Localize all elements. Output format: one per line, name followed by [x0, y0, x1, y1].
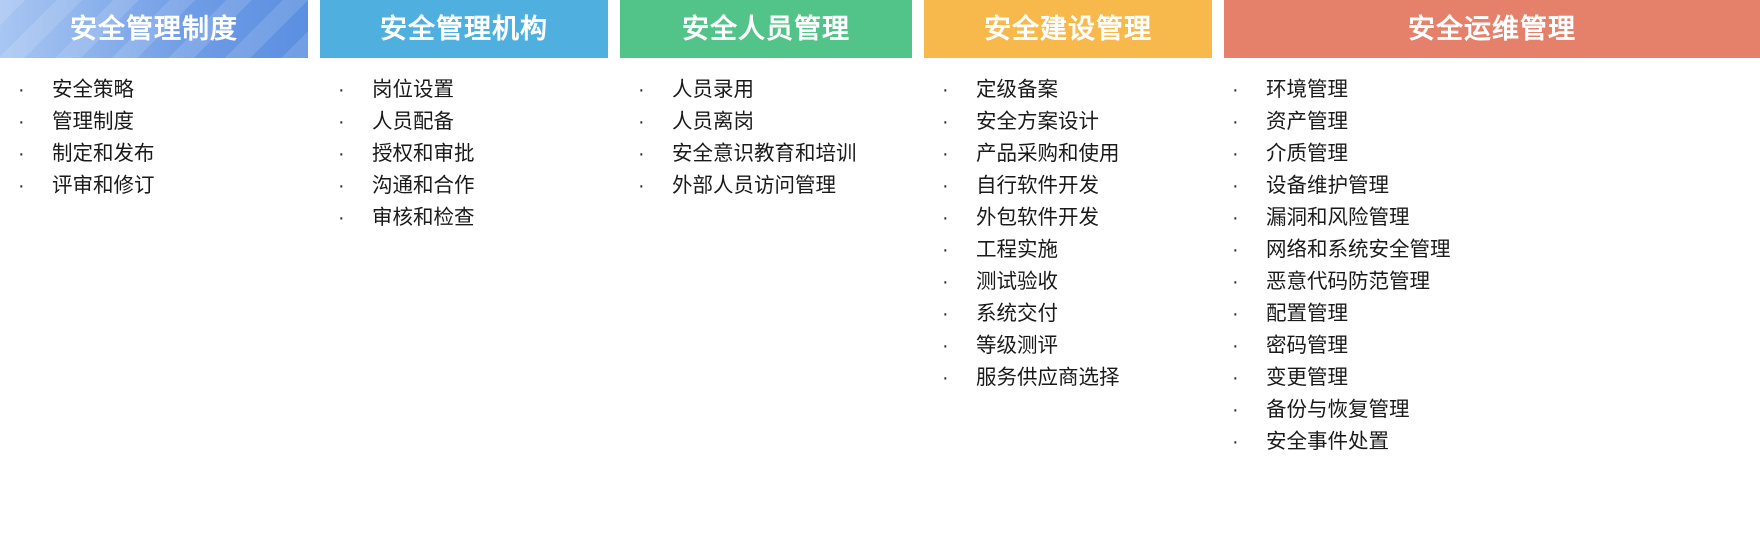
bullet-dot-icon: ·	[1232, 144, 1266, 164]
bullet-dot-icon: ·	[1232, 240, 1266, 260]
bullet-dot-icon: ·	[942, 176, 976, 196]
bullet-dot-icon: ·	[1232, 432, 1266, 452]
list-item[interactable]: ·产品采购和使用	[942, 136, 1212, 168]
column-list-1: ·安全策略·管理制度·制定和发布·评审和修订	[0, 58, 308, 544]
bullet-dot-icon: ·	[18, 80, 52, 100]
list-item[interactable]: ·安全方案设计	[942, 104, 1212, 136]
category-column-5: 安全运维管理·环境管理·资产管理·介质管理·设备维护管理·漏洞和风险管理·网络和…	[1224, 0, 1760, 544]
list-item-label: 等级测评	[976, 328, 1212, 358]
list-item-label: 安全事件处置	[1266, 424, 1760, 454]
list-item-label: 定级备案	[976, 72, 1212, 102]
list-item-label: 自行软件开发	[976, 168, 1212, 198]
bullet-dot-icon: ·	[638, 144, 672, 164]
bullet-dot-icon: ·	[942, 336, 976, 356]
list-item[interactable]: ·沟通和合作	[338, 168, 608, 200]
bullet-dot-icon: ·	[942, 144, 976, 164]
bullet-dot-icon: ·	[638, 80, 672, 100]
list-item[interactable]: ·自行软件开发	[942, 168, 1212, 200]
bullet-dot-icon: ·	[942, 240, 976, 260]
list-item[interactable]: ·环境管理	[1232, 72, 1760, 104]
list-item-label: 变更管理	[1266, 360, 1760, 390]
bullet-dot-icon: ·	[1232, 368, 1266, 388]
list-item[interactable]: ·岗位设置	[338, 72, 608, 104]
list-item-label: 人员离岗	[672, 104, 912, 134]
column-header-5[interactable]: 安全运维管理	[1224, 0, 1760, 58]
list-item[interactable]: ·资产管理	[1232, 104, 1760, 136]
column-header-1[interactable]: 安全管理制度	[0, 0, 308, 58]
category-column-3: 安全人员管理·人员录用·人员离岗·安全意识教育和培训·外部人员访问管理	[620, 0, 912, 544]
bullet-dot-icon: ·	[942, 80, 976, 100]
list-item-label: 沟通和合作	[372, 168, 608, 198]
list-item[interactable]: ·服务供应商选择	[942, 360, 1212, 392]
bullet-dot-icon: ·	[1232, 208, 1266, 228]
list-item-label: 系统交付	[976, 296, 1212, 326]
list-item-label: 产品采购和使用	[976, 136, 1212, 166]
list-item[interactable]: ·管理制度	[18, 104, 308, 136]
list-item-label: 介质管理	[1266, 136, 1760, 166]
bullet-dot-icon: ·	[338, 208, 372, 228]
list-item-label: 评审和修订	[52, 168, 308, 198]
list-item[interactable]: ·设备维护管理	[1232, 168, 1760, 200]
list-item-label: 管理制度	[52, 104, 308, 134]
bullet-dot-icon: ·	[638, 176, 672, 196]
list-item[interactable]: ·安全意识教育和培训	[638, 136, 912, 168]
bullet-dot-icon: ·	[1232, 400, 1266, 420]
list-item[interactable]: ·制定和发布	[18, 136, 308, 168]
list-item-label: 漏洞和风险管理	[1266, 200, 1760, 230]
list-item[interactable]: ·人员录用	[638, 72, 912, 104]
list-item[interactable]: ·审核和检查	[338, 200, 608, 232]
column-header-3[interactable]: 安全人员管理	[620, 0, 912, 58]
list-item[interactable]: ·安全事件处置	[1232, 424, 1760, 456]
bullet-dot-icon: ·	[18, 144, 52, 164]
list-item[interactable]: ·外部人员访问管理	[638, 168, 912, 200]
list-item[interactable]: ·恶意代码防范管理	[1232, 264, 1760, 296]
bullet-dot-icon: ·	[942, 208, 976, 228]
list-item-label: 外部人员访问管理	[672, 168, 912, 198]
category-column-4: 安全建设管理·定级备案·安全方案设计·产品采购和使用·自行软件开发·外包软件开发…	[924, 0, 1212, 544]
bullet-dot-icon: ·	[338, 176, 372, 196]
bullet-dot-icon: ·	[18, 176, 52, 196]
list-item[interactable]: ·人员离岗	[638, 104, 912, 136]
list-item-label: 资产管理	[1266, 104, 1760, 134]
list-item-label: 测试验收	[976, 264, 1212, 294]
list-item[interactable]: ·变更管理	[1232, 360, 1760, 392]
category-column-1: 安全管理制度·安全策略·管理制度·制定和发布·评审和修订	[0, 0, 308, 544]
list-item[interactable]: ·漏洞和风险管理	[1232, 200, 1760, 232]
bullet-dot-icon: ·	[338, 144, 372, 164]
category-board: 安全管理制度·安全策略·管理制度·制定和发布·评审和修订安全管理机构·岗位设置·…	[0, 0, 1760, 544]
list-item[interactable]: ·评审和修订	[18, 168, 308, 200]
list-item[interactable]: ·外包软件开发	[942, 200, 1212, 232]
list-item-label: 环境管理	[1266, 72, 1760, 102]
bullet-dot-icon: ·	[1232, 336, 1266, 356]
column-list-2: ·岗位设置·人员配备·授权和审批·沟通和合作·审核和检查	[320, 58, 608, 544]
list-item-label: 安全意识教育和培训	[672, 136, 912, 166]
list-item-label: 安全策略	[52, 72, 308, 102]
bullet-dot-icon: ·	[18, 112, 52, 132]
list-item-label: 制定和发布	[52, 136, 308, 166]
column-list-3: ·人员录用·人员离岗·安全意识教育和培训·外部人员访问管理	[620, 58, 912, 544]
bullet-dot-icon: ·	[942, 304, 976, 324]
list-item[interactable]: ·系统交付	[942, 296, 1212, 328]
column-list-4: ·定级备案·安全方案设计·产品采购和使用·自行软件开发·外包软件开发·工程实施·…	[924, 58, 1212, 544]
bullet-dot-icon: ·	[942, 112, 976, 132]
bullet-dot-icon: ·	[1232, 80, 1266, 100]
bullet-dot-icon: ·	[1232, 176, 1266, 196]
list-item[interactable]: ·配置管理	[1232, 296, 1760, 328]
list-item-label: 审核和检查	[372, 200, 608, 230]
bullet-dot-icon: ·	[942, 368, 976, 388]
list-item[interactable]: ·授权和审批	[338, 136, 608, 168]
list-item-label: 工程实施	[976, 232, 1212, 262]
list-item[interactable]: ·介质管理	[1232, 136, 1760, 168]
bullet-dot-icon: ·	[338, 112, 372, 132]
list-item-label: 服务供应商选择	[976, 360, 1212, 390]
category-column-2: 安全管理机构·岗位设置·人员配备·授权和审批·沟通和合作·审核和检查	[320, 0, 608, 544]
list-item-label: 备份与恢复管理	[1266, 392, 1760, 422]
list-item-label: 岗位设置	[372, 72, 608, 102]
bullet-dot-icon: ·	[1232, 272, 1266, 292]
bullet-dot-icon: ·	[1232, 112, 1266, 132]
bullet-dot-icon: ·	[942, 272, 976, 292]
list-item-label: 恶意代码防范管理	[1266, 264, 1760, 294]
list-item-label: 人员录用	[672, 72, 912, 102]
list-item[interactable]: ·安全策略	[18, 72, 308, 104]
column-header-2[interactable]: 安全管理机构	[320, 0, 608, 58]
list-item-label: 密码管理	[1266, 328, 1760, 358]
bullet-dot-icon: ·	[338, 80, 372, 100]
list-item[interactable]: ·等级测评	[942, 328, 1212, 360]
list-item[interactable]: ·工程实施	[942, 232, 1212, 264]
list-item-label: 人员配备	[372, 104, 608, 134]
list-item-label: 网络和系统安全管理	[1266, 232, 1760, 262]
list-item[interactable]: ·人员配备	[338, 104, 608, 136]
list-item[interactable]: ·密码管理	[1232, 328, 1760, 360]
list-item-label: 外包软件开发	[976, 200, 1212, 230]
list-item[interactable]: ·测试验收	[942, 264, 1212, 296]
column-list-5: ·环境管理·资产管理·介质管理·设备维护管理·漏洞和风险管理·网络和系统安全管理…	[1224, 58, 1760, 544]
bullet-dot-icon: ·	[638, 112, 672, 132]
list-item-label: 安全方案设计	[976, 104, 1212, 134]
bullet-dot-icon: ·	[1232, 304, 1266, 324]
list-item-label: 配置管理	[1266, 296, 1760, 326]
column-header-4[interactable]: 安全建设管理	[924, 0, 1212, 58]
list-item-label: 授权和审批	[372, 136, 608, 166]
list-item[interactable]: ·备份与恢复管理	[1232, 392, 1760, 424]
list-item-label: 设备维护管理	[1266, 168, 1760, 198]
list-item[interactable]: ·网络和系统安全管理	[1232, 232, 1760, 264]
list-item[interactable]: ·定级备案	[942, 72, 1212, 104]
